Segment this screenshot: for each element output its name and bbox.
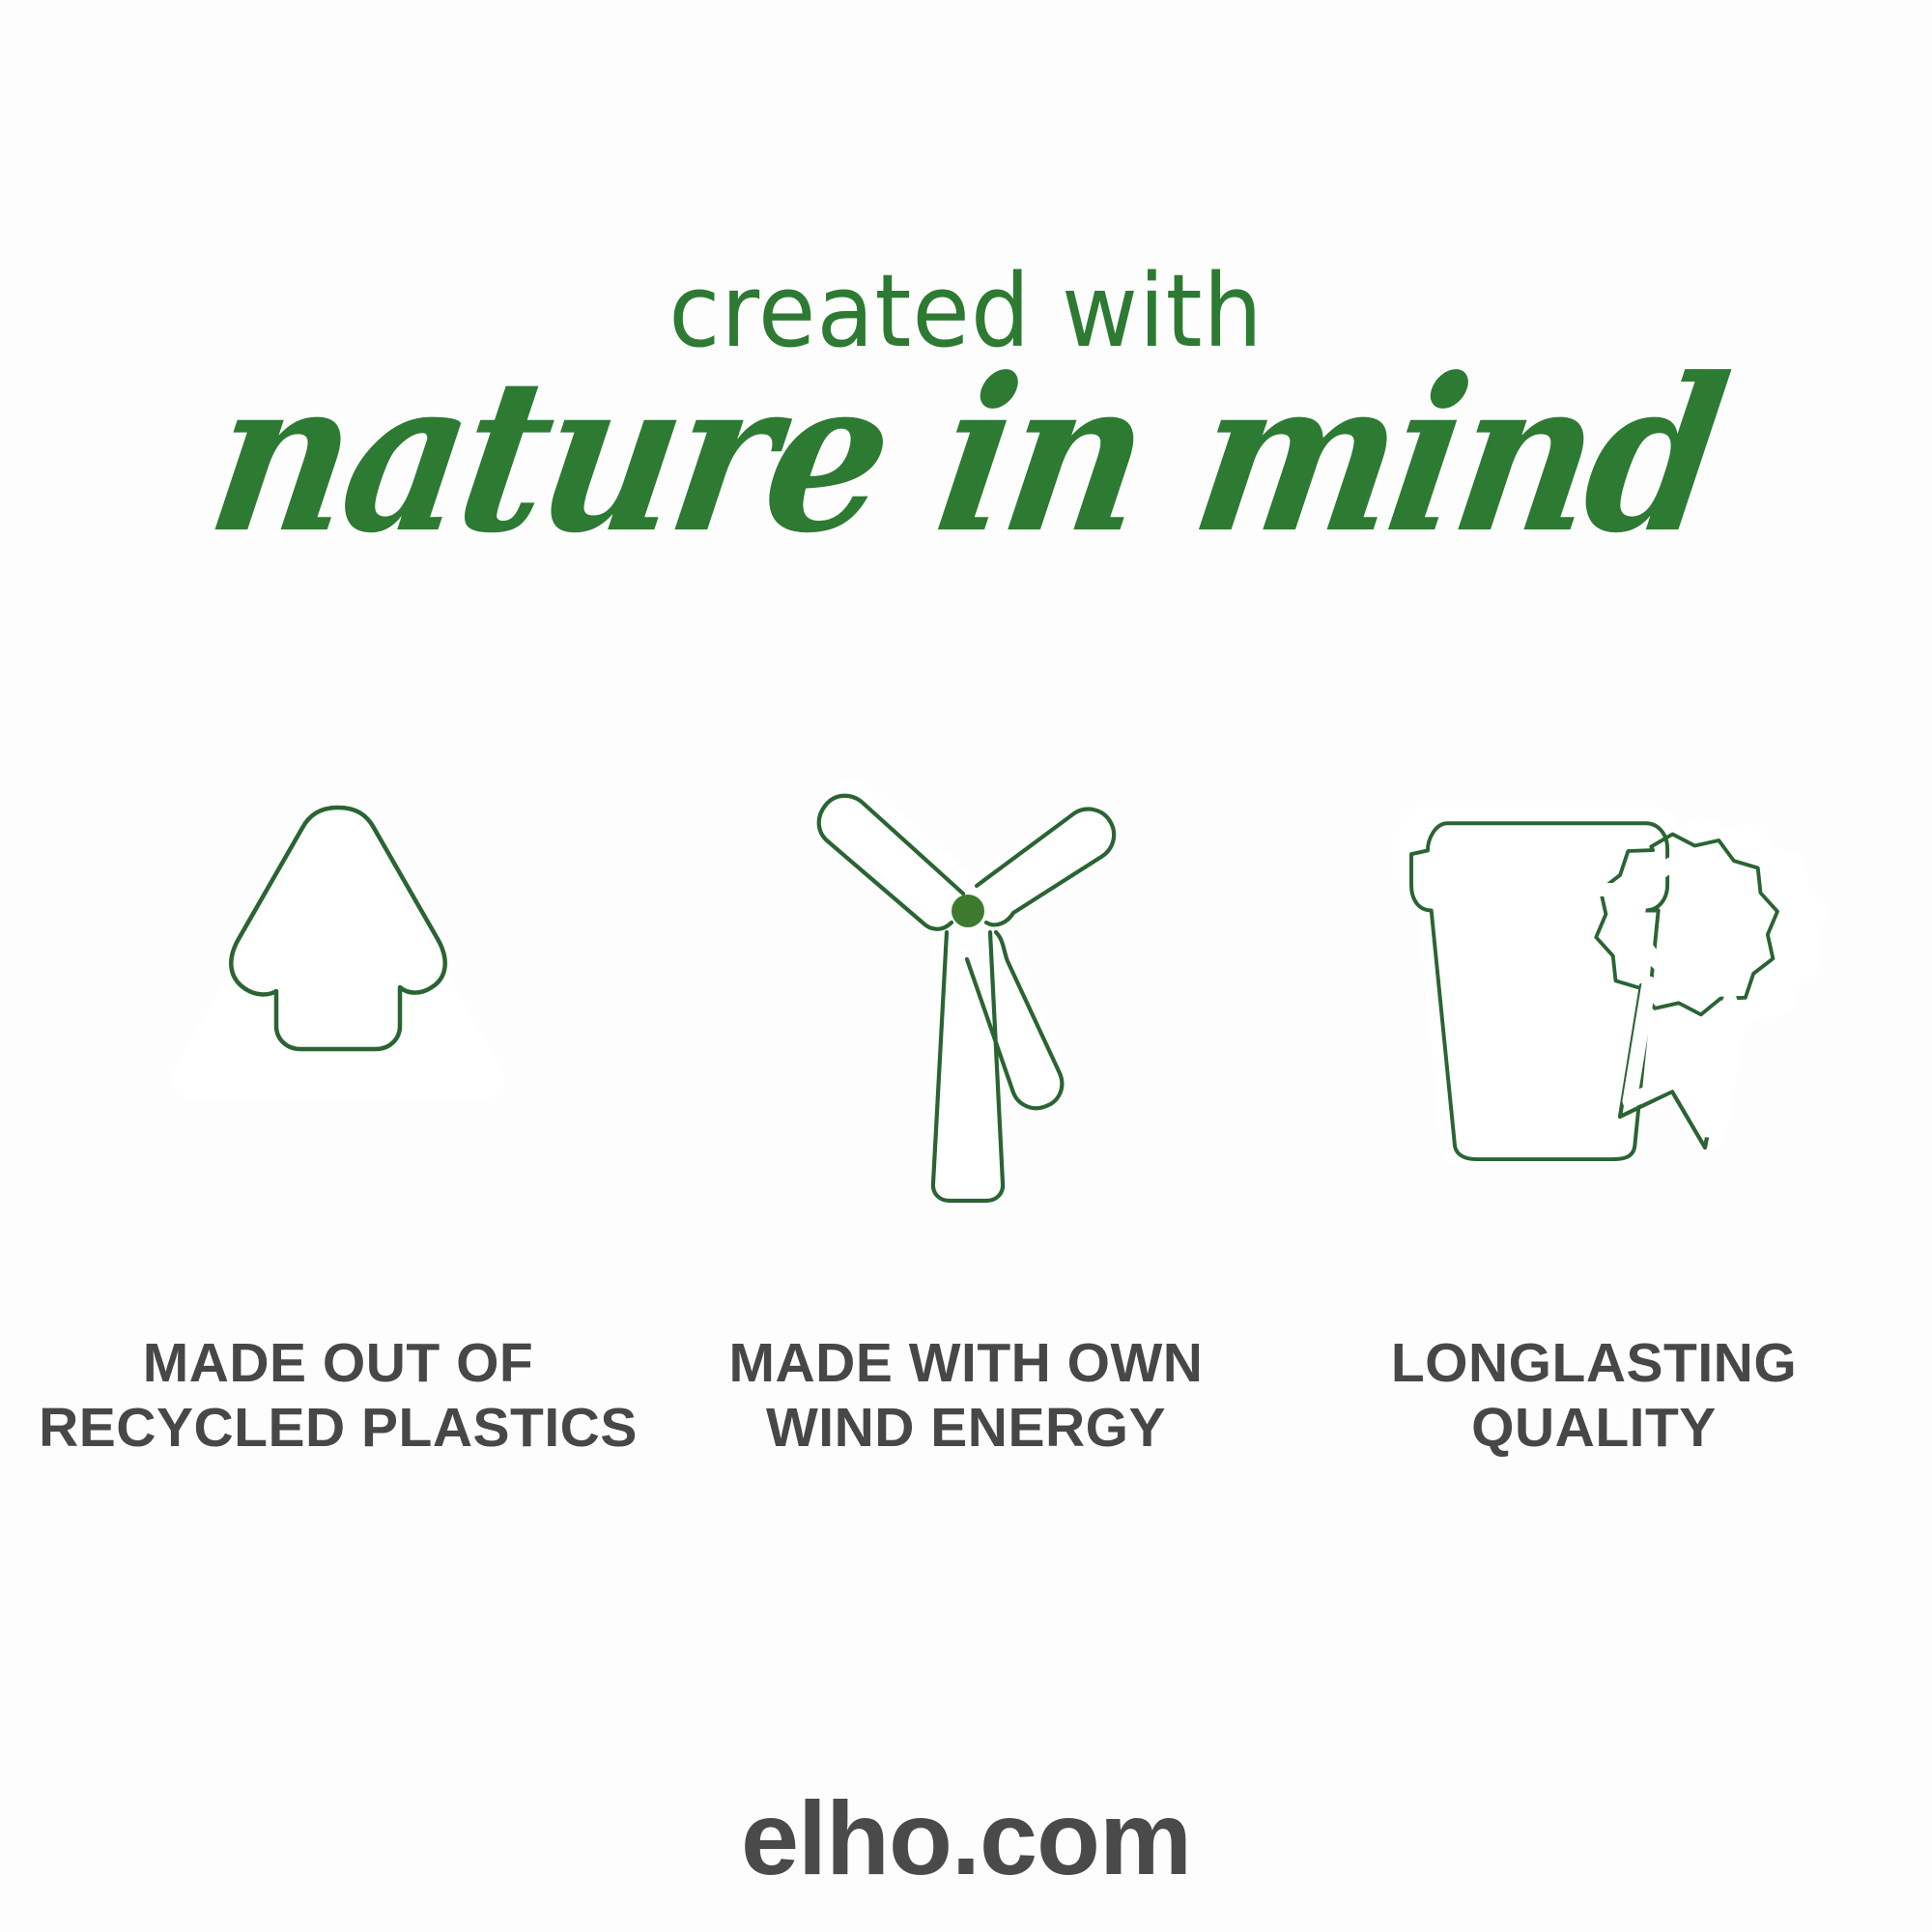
pot-sticker-outline: [1411, 823, 1808, 1159]
award-pot-icon-wrap: 1: [1372, 773, 1816, 1217]
footer-website-url[interactable]: elho.com: [741, 1779, 1191, 1896]
turbine-hub: [952, 895, 984, 927]
turbine-sticker-outline: [819, 796, 1114, 1201]
feature-longlasting-quality: 1 LONGLASTING QUALITY: [1294, 773, 1893, 1462]
feature-recycled-plastics: MADE OUT OF RECYCLED PLASTICS: [39, 773, 638, 1462]
award-pot-icon: 1: [1396, 811, 1792, 1179]
recycle-icon: [130, 802, 546, 1188]
headline-script: nature in mind: [0, 346, 1932, 567]
feature-caption: MADE WITH OWN WIND ENERGY: [729, 1331, 1204, 1462]
recycle-icon-wrap: [116, 773, 560, 1217]
wind-turbine-icon: [807, 787, 1125, 1203]
feature-wind-energy: MADE WITH OWN WIND ENERGY: [667, 773, 1265, 1462]
feature-row: MADE OUT OF RECYCLED PLASTICS: [0, 773, 1932, 1462]
feature-caption: LONGLASTING QUALITY: [1391, 1331, 1797, 1462]
wind-turbine-icon-wrap: [744, 773, 1188, 1217]
footer: elho.com: [0, 1777, 1932, 1898]
award-badge-number: 1: [1673, 873, 1719, 964]
feature-caption: MADE OUT OF RECYCLED PLASTICS: [39, 1331, 638, 1462]
headline-block: created with nature in mind: [0, 261, 1932, 555]
poster-canvas: created with nature in mind: [0, 0, 1932, 1932]
